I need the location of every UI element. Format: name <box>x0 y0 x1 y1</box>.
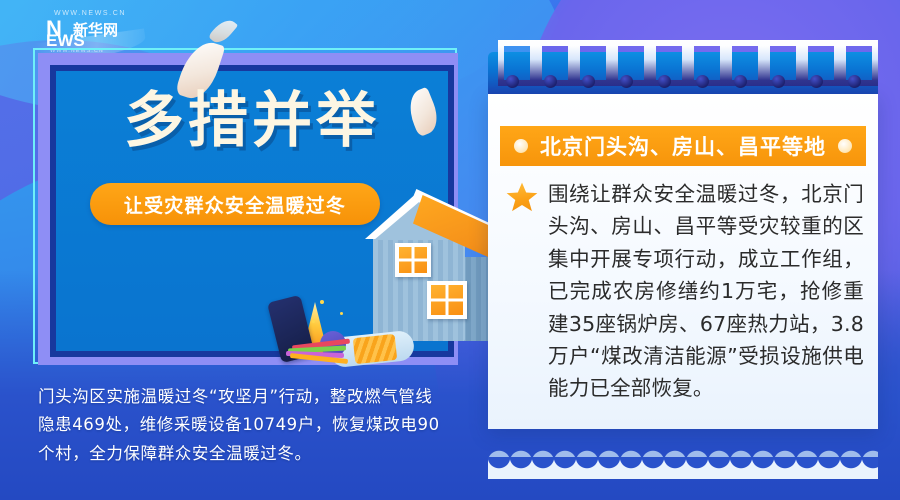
subtitle-pill: 让受灾群众安全温暖过冬 <box>90 183 380 225</box>
pencil-cup-band <box>353 334 397 364</box>
sparkle-icon <box>340 312 343 315</box>
phone-pencil-illustration <box>258 298 433 380</box>
sparkle-icon <box>312 320 315 323</box>
pencils-group <box>286 342 352 358</box>
left-caption-text: 门头沟区实施温暖过冬“攻坚月”行动，整改燃气管线隐患469处，维修采暖设备107… <box>38 383 448 468</box>
logo-url-top: WWW.NEWS.CN <box>54 10 126 17</box>
notebook-body-text: 围绕让群众安全温暖过冬，北京门头沟、房山、昌平等受灾较重的区集中开展专项行动，成… <box>548 178 864 405</box>
region-banner: 北京门头沟、房山、昌平等地 <box>500 126 866 166</box>
house-window-upper <box>395 243 431 277</box>
notebook-scallop-edge <box>488 457 878 479</box>
banner-dot-left-icon <box>514 139 528 153</box>
subtitle-pill-label: 让受灾群众安全温暖过冬 <box>124 191 346 218</box>
notebook-rings <box>488 40 878 92</box>
sparkle-icon <box>320 300 324 304</box>
notebook-card: 北京门头沟、房山、昌平等地 围绕让群众安全温暖过冬，北京门头沟、房山、昌平等受灾… <box>488 52 878 452</box>
infographic-canvas: WWW.NEWS.CN N EWS 新华网 WWW.NEWS.CN 多措并举 让… <box>0 0 900 500</box>
house-window-lower <box>427 281 467 319</box>
region-banner-label: 北京门头沟、房山、昌平等地 <box>540 131 826 161</box>
banner-dot-right-icon <box>838 139 852 153</box>
page-title: 多措并举 <box>56 88 448 154</box>
